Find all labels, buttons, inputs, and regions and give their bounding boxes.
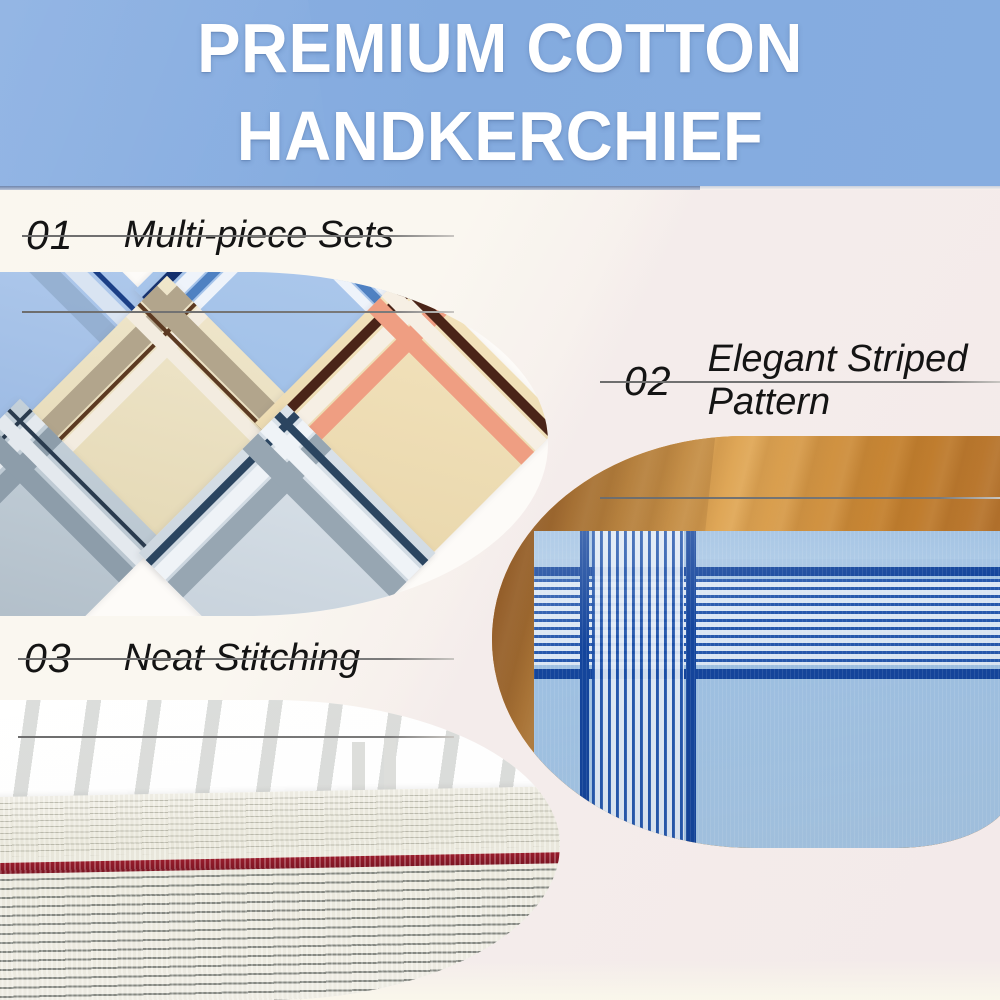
banner-bottom-edge-left <box>0 186 700 190</box>
feature-label-02: 02 Elegant Striped Pattern <box>600 322 1000 440</box>
photo-neat-stitching <box>0 700 560 1000</box>
infographic-page: PREMIUM COTTON HANDKERCHIEF <box>0 0 1000 1000</box>
window-blinds <box>0 700 540 800</box>
stitched-handkerchief-edge <box>0 786 560 1000</box>
divider-rule-bottom <box>22 311 454 313</box>
banner-bottom-edge-right <box>700 186 1000 189</box>
cloth-light-sheen <box>534 531 1000 848</box>
feature-label-01: 01 Multi-piece Sets <box>22 196 454 274</box>
divider-rule-bottom <box>600 497 1000 499</box>
divider-rule-top <box>22 235 454 237</box>
divider-rule-bottom <box>18 736 454 738</box>
divider-rule-top <box>18 658 454 660</box>
photo-multi-piece-sets <box>0 272 548 616</box>
striped-handkerchief <box>534 531 1000 848</box>
header-banner: PREMIUM COTTON HANDKERCHIEF <box>0 0 1000 186</box>
feature-label-03: 03 Neat Stitching <box>18 618 454 698</box>
divider-rule-top <box>600 381 1000 383</box>
handkerchief-grid <box>0 272 548 616</box>
stitch-weave-texture <box>0 786 560 1000</box>
page-title: PREMIUM COTTON HANDKERCHIEF <box>35 4 965 180</box>
